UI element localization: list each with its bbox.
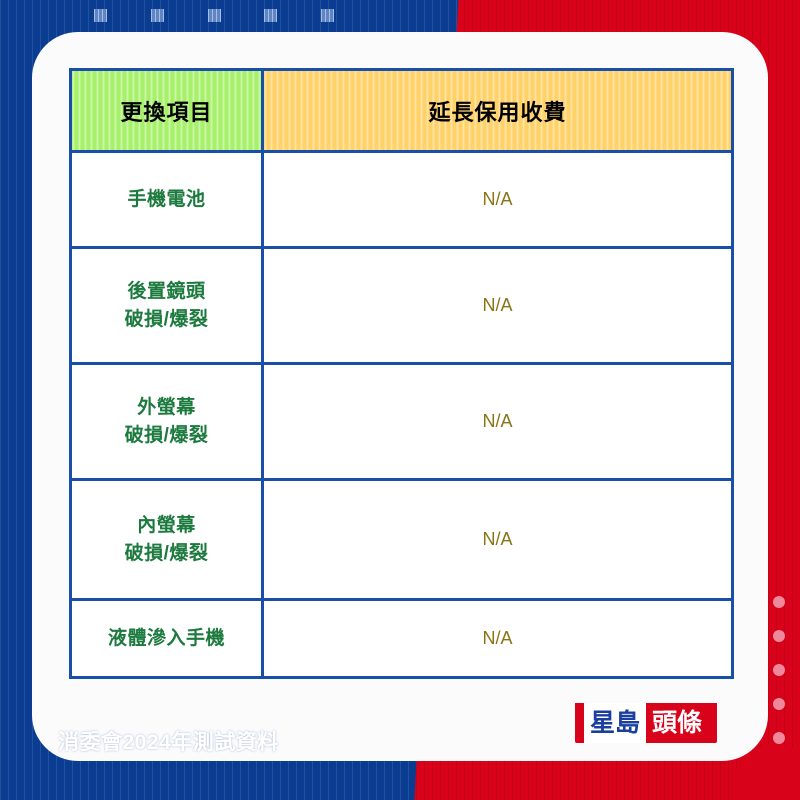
table-row: 液體滲入手機 N/A [71, 600, 733, 678]
cell-item-line1: 手機電池 [72, 186, 261, 214]
dot-decoration [773, 596, 785, 608]
source-caption: 消委會2024年測試資料 [58, 726, 279, 756]
warranty-fee-table: 更換項目 延長保用收費 手機電池 N/A 後置鏡頭 破損/爆裂 N/A [69, 68, 734, 679]
logo-text-blue: 星島 [584, 703, 646, 743]
column-header-item: 更換項目 [71, 70, 263, 152]
column-header-fee: 延長保用收費 [263, 70, 733, 152]
cell-item-line2: 破損/爆裂 [72, 540, 261, 568]
sing-tao-headline-logo: 星島 頭條 [575, 703, 727, 743]
top-square-decoration [321, 9, 334, 22]
top-square-decoration [151, 9, 164, 22]
cell-item: 後置鏡頭 破損/爆裂 [71, 248, 263, 364]
cell-item: 液體滲入手機 [71, 600, 263, 678]
cell-fee: N/A [263, 600, 733, 678]
cell-fee: N/A [263, 480, 733, 600]
screenshot-root: 更換項目 延長保用收費 手機電池 N/A 後置鏡頭 破損/爆裂 N/A [0, 0, 800, 800]
cell-fee: N/A [263, 248, 733, 364]
cell-item-line1: 後置鏡頭 [72, 278, 261, 306]
top-square-decorations [94, 9, 334, 23]
table-row: 外螢幕 破損/爆裂 N/A [71, 364, 733, 480]
cell-item: 手機電池 [71, 152, 263, 248]
table-header-row: 更換項目 延長保用收費 [71, 70, 733, 152]
logo-text-red: 頭條 [646, 703, 708, 743]
table-row: 內螢幕 破損/爆裂 N/A [71, 480, 733, 600]
cell-fee: N/A [263, 364, 733, 480]
cell-item-line1: 外螢幕 [72, 394, 261, 422]
cell-item-line2: 破損/爆裂 [72, 422, 261, 450]
corner-swoosh-decoration [730, 730, 800, 800]
cell-item-line2: 破損/爆裂 [72, 306, 261, 334]
logo-bracket-left-icon [575, 703, 584, 743]
table-row: 手機電池 N/A [71, 152, 733, 248]
cell-item: 外螢幕 破損/爆裂 [71, 364, 263, 480]
content-card: 更換項目 延長保用收費 手機電池 N/A 後置鏡頭 破損/爆裂 N/A [32, 32, 768, 761]
cell-item: 內螢幕 破損/爆裂 [71, 480, 263, 600]
dot-decoration [773, 630, 785, 642]
cell-fee: N/A [263, 152, 733, 248]
cell-item-line1: 內螢幕 [72, 512, 261, 540]
top-square-decoration [208, 9, 221, 22]
dot-decoration [773, 664, 785, 676]
top-square-decoration [264, 9, 277, 22]
top-square-decoration [94, 9, 107, 22]
cell-item-line1: 液體滲入手機 [72, 625, 261, 653]
table-row: 後置鏡頭 破損/爆裂 N/A [71, 248, 733, 364]
logo-bracket-right-icon [708, 703, 717, 743]
right-dot-decorations [773, 596, 785, 744]
dot-decoration [773, 698, 785, 710]
